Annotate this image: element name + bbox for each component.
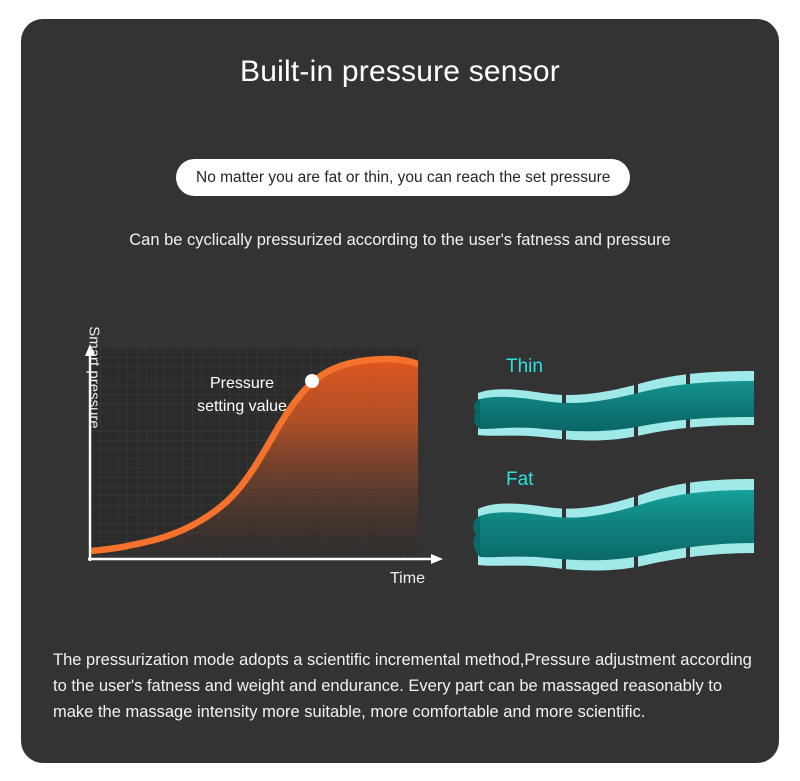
subtitle-text: Can be cyclically pressurized according … bbox=[21, 231, 779, 250]
limb-illustrations: Thin Fat bbox=[446, 349, 766, 599]
chart-x-axis-label: Time bbox=[390, 570, 425, 588]
screenshot-root: Built-in pressure sensor No matter you a… bbox=[0, 0, 800, 781]
fat-limb-group bbox=[473, 479, 754, 571]
status-badge: No matter you are fat or thin, you can r… bbox=[176, 159, 630, 196]
content-panel: Built-in pressure sensor No matter you a… bbox=[21, 19, 779, 763]
limb-label-thin: Thin bbox=[506, 356, 543, 378]
thin-limb-group bbox=[474, 371, 754, 441]
limb-svg bbox=[446, 349, 766, 599]
page-title: Built-in pressure sensor bbox=[21, 55, 779, 89]
limb-label-fat: Fat bbox=[506, 469, 533, 491]
chart-y-axis-label: Smart pressure bbox=[86, 313, 103, 443]
chart-annotation: Pressure setting value bbox=[167, 372, 317, 418]
footer-description: The pressurization mode adopts a scienti… bbox=[53, 647, 753, 725]
pressure-chart: Smart pressure Time Pressure setting val… bbox=[54, 339, 454, 604]
